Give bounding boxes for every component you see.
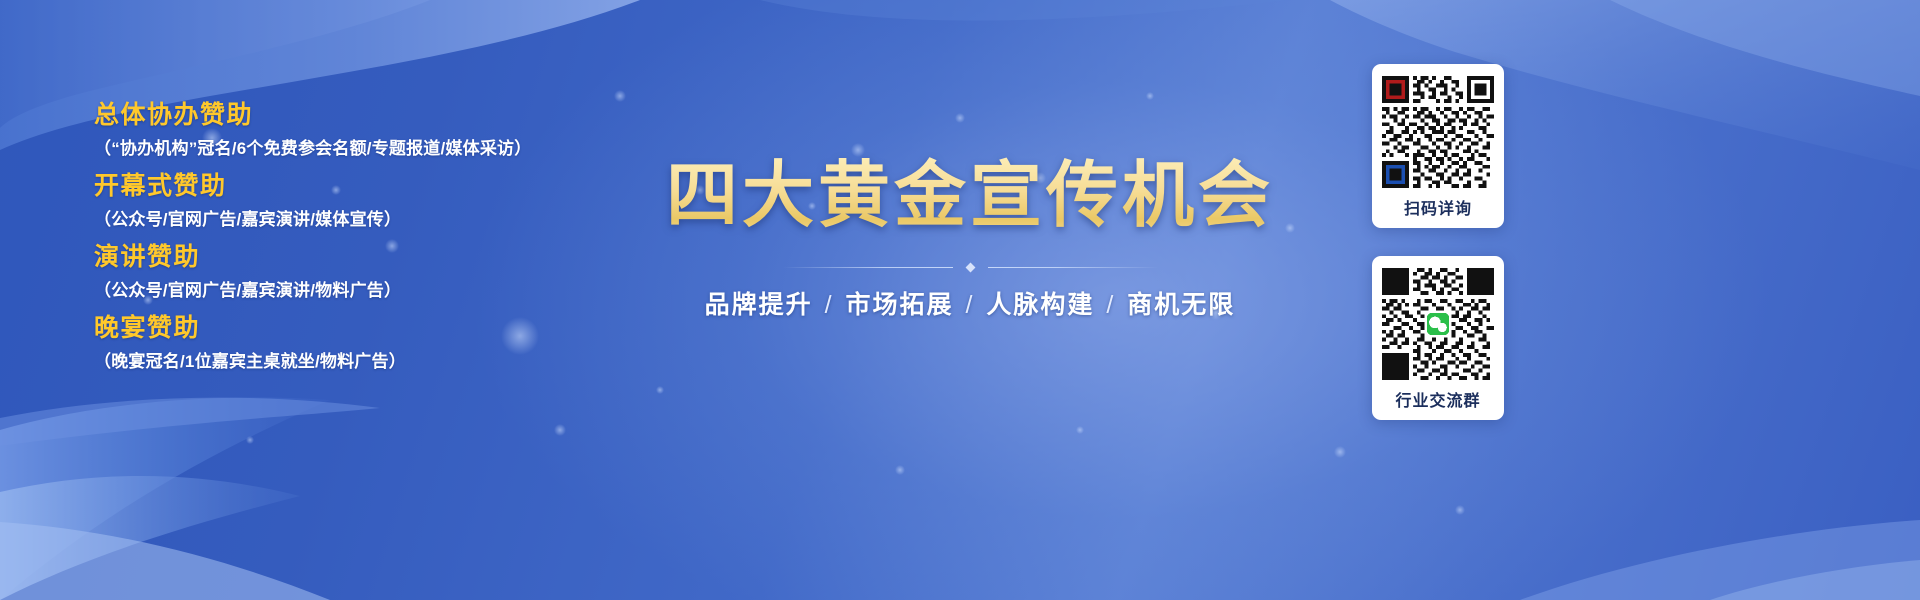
tier-title: 总体协办赞助 bbox=[94, 96, 714, 134]
divider-diamond-icon bbox=[965, 263, 975, 273]
divider-line-right bbox=[988, 267, 1158, 268]
qr-card-consult[interactable]: 扫码详询 bbox=[1372, 64, 1504, 228]
tier-description: （公众号/官网广告/嘉宾演讲/物料广告） bbox=[94, 276, 714, 306]
qr-code-icon bbox=[1382, 76, 1494, 188]
tier-title: 演讲赞助 bbox=[94, 238, 714, 276]
qr-caption: 行业交流群 bbox=[1382, 387, 1494, 411]
headline-divider bbox=[660, 264, 1280, 271]
sponsorship-tier: 总体协办赞助 （“协办机构”冠名/6个免费参会名额/专题报道/媒体采访） bbox=[94, 96, 714, 164]
promo-banner: 总体协办赞助 （“协办机构”冠名/6个免费参会名额/专题报道/媒体采访） 开幕式… bbox=[0, 0, 1920, 600]
sponsorship-tier-list: 总体协办赞助 （“协办机构”冠名/6个免费参会名额/专题报道/媒体采访） 开幕式… bbox=[94, 96, 714, 380]
qr-caption: 扫码详询 bbox=[1382, 195, 1494, 219]
headline-title: 四大黄金宣传机会 bbox=[660, 150, 1280, 242]
qr-card-group[interactable]: 行业交流群 bbox=[1372, 256, 1504, 420]
qr-code-icon bbox=[1382, 268, 1494, 380]
subtitle-part: 人脉构建 bbox=[986, 291, 1094, 319]
subtitle-part: 市场拓展 bbox=[846, 291, 954, 319]
subtitle-part: 品牌提升 bbox=[705, 291, 813, 319]
divider-line-left bbox=[783, 267, 953, 268]
tier-description: （“协办机构”冠名/6个免费参会名额/专题报道/媒体采访） bbox=[94, 134, 714, 164]
tier-title: 开幕式赞助 bbox=[94, 167, 714, 205]
subtitle-separator: / bbox=[963, 291, 978, 319]
sponsorship-tier: 演讲赞助 （公众号/官网广告/嘉宾演讲/物料广告） bbox=[94, 238, 714, 306]
subtitle-separator: / bbox=[822, 291, 837, 319]
tier-title: 晚宴赞助 bbox=[94, 309, 714, 347]
headline-block: 四大黄金宣传机会 品牌提升 / 市场拓展 / 人脉构建 / 商机无限 bbox=[660, 150, 1280, 321]
sponsorship-tier: 晚宴赞助 （晚宴冠名/1位嘉宾主桌就坐/物料广告） bbox=[94, 309, 714, 377]
sponsorship-tier: 开幕式赞助 （公众号/官网广告/嘉宾演讲/媒体宣传） bbox=[94, 167, 714, 235]
subtitle-separator: / bbox=[1103, 291, 1118, 319]
headline-subtitle: 品牌提升 / 市场拓展 / 人脉构建 / 商机无限 bbox=[660, 285, 1280, 321]
tier-description: （晚宴冠名/1位嘉宾主桌就坐/物料广告） bbox=[94, 347, 714, 377]
tier-description: （公众号/官网广告/嘉宾演讲/媒体宣传） bbox=[94, 205, 714, 235]
subtitle-part: 商机无限 bbox=[1127, 291, 1235, 319]
